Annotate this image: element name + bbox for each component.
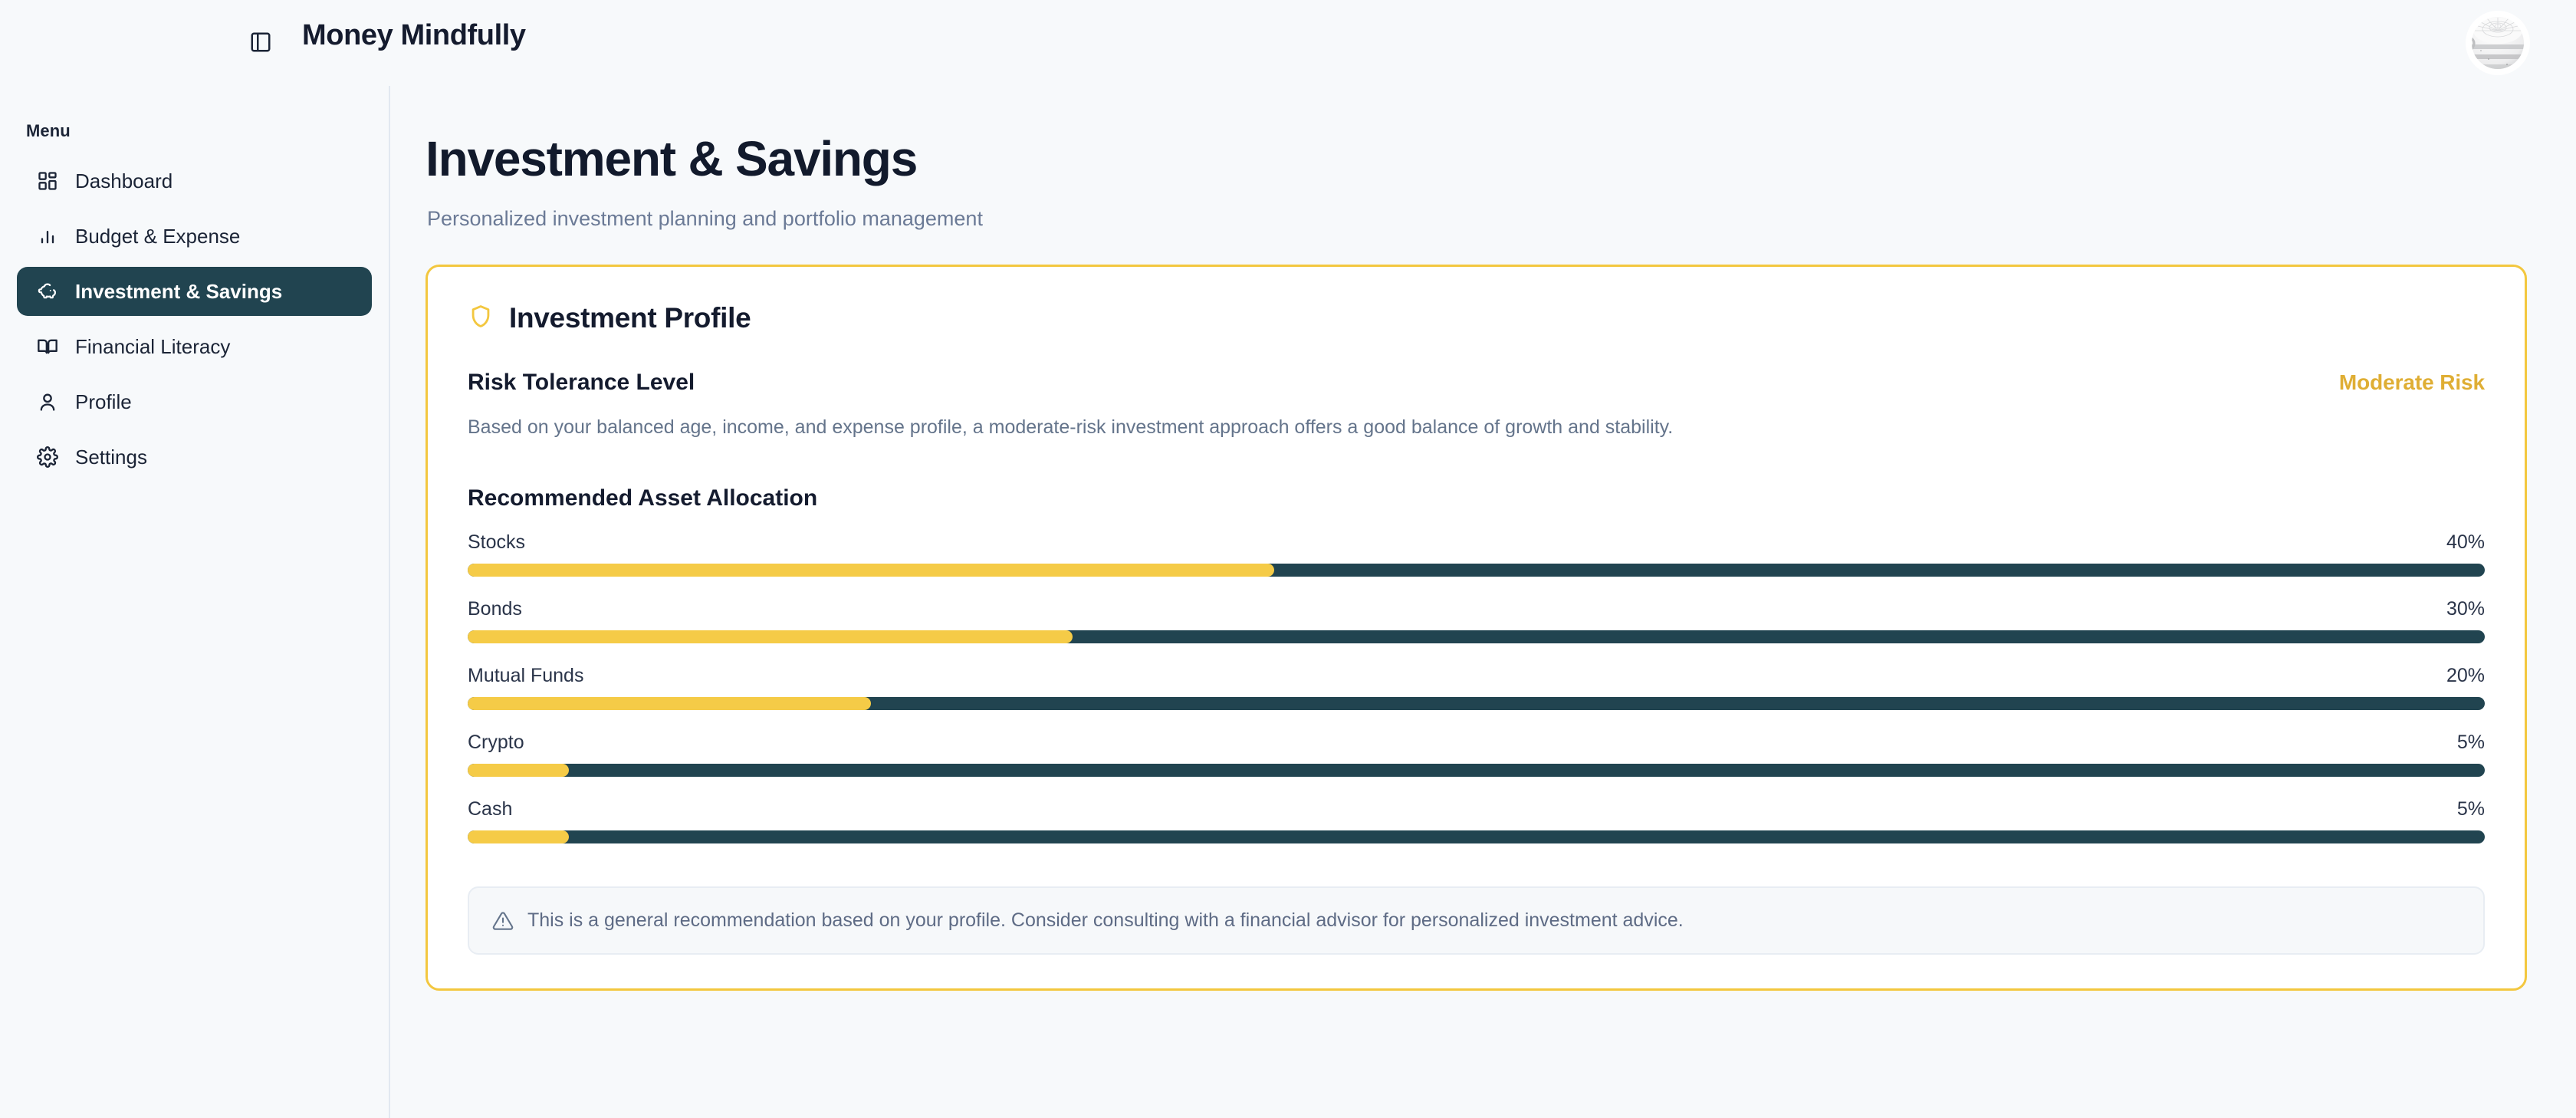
asset-allocation-row-header: Mutual Funds20% <box>468 665 2485 687</box>
asset-allocation-list: Stocks40%Bonds30%Mutual Funds20%Crypto5%… <box>468 531 2485 843</box>
asset-allocation-row-header: Stocks40% <box>468 531 2485 554</box>
allocation-bar-fill <box>468 764 569 777</box>
allocation-bar-track <box>468 697 2485 710</box>
page-title: Investment & Savings <box>426 132 2521 186</box>
sidebar-item-label: Budget & Expense <box>75 226 240 246</box>
main-content: Investment & Savings Personalized invest… <box>390 86 2576 1118</box>
asset-allocation-row-header: Crypto5% <box>468 732 2485 754</box>
top-header: Money Mindfully <box>0 0 2576 86</box>
sidebar-item-investment-savings[interactable]: Investment & Savings <box>17 267 372 316</box>
shield-icon <box>468 304 494 334</box>
sidebar-item-settings[interactable]: Settings <box>17 432 372 482</box>
book-open-icon <box>32 331 63 362</box>
sidebar-item-financial-literacy[interactable]: Financial Literacy <box>17 322 372 371</box>
disclaimer-text: This is a general recommendation based o… <box>527 908 1684 933</box>
allocation-bar-fill <box>468 564 1274 577</box>
asset-allocation-row: Bonds30% <box>468 598 2485 643</box>
gear-icon <box>32 442 63 472</box>
asset-percentage: 5% <box>2457 732 2485 754</box>
sidebar-item-dashboard[interactable]: Dashboard <box>17 156 372 206</box>
asset-name: Mutual Funds <box>468 665 583 687</box>
asset-percentage: 40% <box>2446 531 2485 554</box>
allocation-bar-fill <box>468 630 1073 643</box>
alert-triangle-icon <box>492 910 514 932</box>
allocation-bar-track <box>468 764 2485 777</box>
sidebar-item-label: Financial Literacy <box>75 337 230 357</box>
asset-percentage: 30% <box>2446 598 2485 620</box>
sidebar-toggle-button[interactable] <box>245 28 276 58</box>
sidebar-item-budget-expense[interactable]: Budget & Expense <box>17 212 372 261</box>
asset-name: Cash <box>468 798 512 820</box>
avatar-image <box>2466 11 2530 75</box>
asset-allocation-row: Mutual Funds20% <box>468 665 2485 710</box>
app-title: Money Mindfully <box>302 18 526 54</box>
risk-level-badge: Moderate Risk <box>2339 370 2485 395</box>
allocation-bar-track <box>468 564 2485 577</box>
user-icon <box>32 386 63 417</box>
asset-name: Crypto <box>468 732 524 754</box>
risk-description: Based on your balanced age, income, and … <box>468 414 2485 441</box>
avatar[interactable] <box>2466 11 2530 75</box>
asset-allocation-row: Stocks40% <box>468 531 2485 577</box>
card-title: Investment Profile <box>509 302 751 334</box>
grid-icon <box>32 166 63 196</box>
asset-allocation-row: Cash5% <box>468 798 2485 843</box>
asset-percentage: 20% <box>2446 665 2485 687</box>
asset-allocation-row-header: Bonds30% <box>468 598 2485 620</box>
page-subtitle: Personalized investment planning and por… <box>427 206 2521 232</box>
asset-allocation-row-header: Cash5% <box>468 798 2485 820</box>
sidebar-item-label: Profile <box>75 392 132 412</box>
risk-tolerance-heading: Risk Tolerance Level <box>468 370 695 396</box>
sidebar-item-profile[interactable]: Profile <box>17 377 372 426</box>
risk-tolerance-row: Risk Tolerance Level Moderate Risk <box>468 370 2485 396</box>
bar-chart-icon <box>32 221 63 252</box>
asset-percentage: 5% <box>2457 798 2485 820</box>
allocation-bar-fill <box>468 697 871 710</box>
sidebar-item-label: Investment & Savings <box>75 281 282 301</box>
asset-name: Stocks <box>468 531 525 554</box>
investment-profile-card: Investment Profile Risk Tolerance Level … <box>426 265 2527 991</box>
panel-left-icon <box>249 31 272 56</box>
piggy-bank-icon <box>32 276 63 307</box>
disclaimer-box: This is a general recommendation based o… <box>468 886 2485 955</box>
sidebar-item-label: Settings <box>75 447 147 467</box>
sidebar-item-label: Dashboard <box>75 171 172 191</box>
allocation-bar-fill <box>468 830 569 843</box>
sidebar: Menu Dashboard Budget & Expense <box>0 86 390 1118</box>
asset-allocation-heading: Recommended Asset Allocation <box>468 485 2485 511</box>
allocation-bar-track <box>468 830 2485 843</box>
allocation-bar-track <box>468 630 2485 643</box>
asset-allocation-row: Crypto5% <box>468 732 2485 777</box>
sidebar-menu-label: Menu <box>26 121 389 141</box>
asset-name: Bonds <box>468 598 522 620</box>
card-header: Investment Profile <box>468 302 2485 334</box>
